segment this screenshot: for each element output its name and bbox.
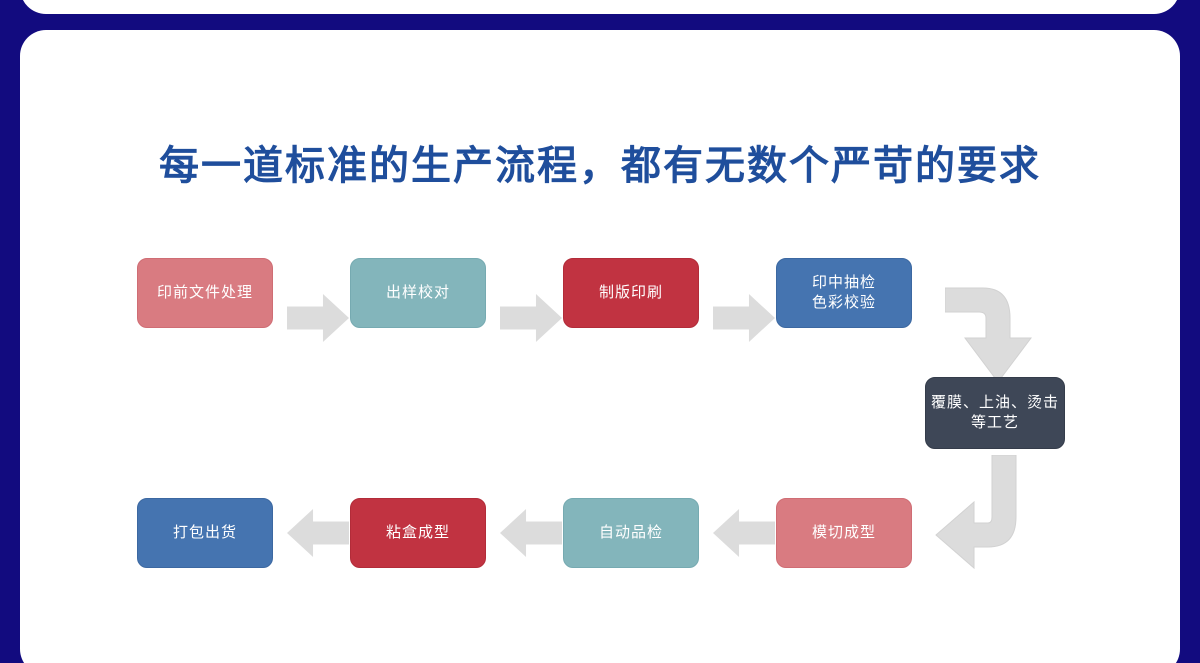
process-box-pre-press[interactable]: 印前文件处理 xyxy=(137,258,273,328)
process-box-auto-qc[interactable]: 自动品检 xyxy=(563,498,699,568)
arrow-left-2 xyxy=(500,509,562,557)
process-box-plate-printing[interactable]: 制版印刷 xyxy=(563,258,699,328)
process-box-label-line1: 覆膜、上油、烫击 xyxy=(931,393,1059,413)
process-box-lamination-varnish[interactable]: 覆膜、上油、烫击 等工艺 xyxy=(925,377,1065,449)
arrow-left-1 xyxy=(713,509,775,557)
process-box-packing-shipping[interactable]: 打包出货 xyxy=(137,498,273,568)
process-box-label: 粘盒成型 xyxy=(386,523,450,543)
process-box-label: 模切成型 xyxy=(812,523,876,543)
process-box-label: 制版印刷 xyxy=(599,283,663,303)
arrow-right-2 xyxy=(500,294,562,342)
process-box-box-gluing[interactable]: 粘盒成型 xyxy=(350,498,486,568)
elbow-left-arrow xyxy=(930,455,1050,580)
process-box-label-line2: 等工艺 xyxy=(931,413,1059,433)
process-box-label-line2: 色彩校验 xyxy=(812,293,876,313)
arrow-left-3 xyxy=(287,509,349,557)
process-box-die-cutting[interactable]: 模切成型 xyxy=(776,498,912,568)
page-title: 每一道标准的生产流程，都有无数个严苛的要求 xyxy=(20,133,1180,191)
process-box-label-line1: 印中抽检 xyxy=(812,273,876,293)
process-box-label: 出样校对 xyxy=(386,283,450,303)
process-box-inline-inspection[interactable]: 印中抽检 色彩校验 xyxy=(776,258,912,328)
elbow-down-arrow xyxy=(945,260,1055,390)
slide-card: 每一道标准的生产流程，都有无数个严苛的要求 印前文件处理 出样校对 制版印刷 印… xyxy=(20,30,1180,663)
previous-slide-edge xyxy=(20,0,1180,14)
slide-root: 每一道标准的生产流程，都有无数个严苛的要求 印前文件处理 出样校对 制版印刷 印… xyxy=(0,0,1200,663)
process-box-sample-proofing[interactable]: 出样校对 xyxy=(350,258,486,328)
process-box-label: 打包出货 xyxy=(173,523,237,543)
arrow-right-3 xyxy=(713,294,775,342)
process-box-label: 自动品检 xyxy=(599,523,663,543)
process-box-label: 印前文件处理 xyxy=(157,283,253,303)
arrow-right-1 xyxy=(287,294,349,342)
